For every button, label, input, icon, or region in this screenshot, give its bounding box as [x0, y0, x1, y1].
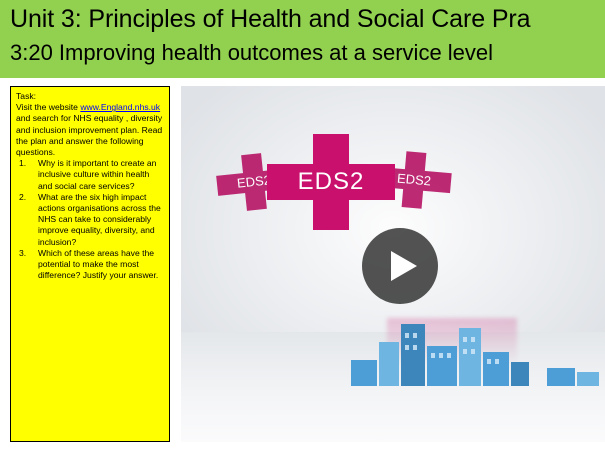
task-intro: Visit the website www.England.nhs.uk and… — [16, 102, 164, 158]
task-question-list: 1.Why is it important to create an inclu… — [16, 158, 164, 281]
question-number: 3. — [19, 248, 26, 259]
task-heading: Task: — [16, 91, 164, 102]
question-text: What are the six high impact actions org… — [38, 192, 161, 247]
slide: Unit 3: Principles of Health and Social … — [0, 0, 605, 454]
question-number: 2. — [19, 192, 26, 203]
task-intro-before: Visit the website — [16, 102, 80, 112]
task-intro-after: and search for NHS equality , diversity … — [16, 113, 162, 157]
page-title-line-1: Unit 3: Principles of Health and Social … — [10, 2, 530, 36]
cross-main-icon: EDS2 — [267, 134, 395, 230]
page-title-line-2: 3:20 Improving health outcomes at a serv… — [10, 38, 493, 68]
list-item: 3.Which of these areas have the potentia… — [16, 248, 164, 282]
video-player[interactable]: EDS2 EDS2 EDS2 — [181, 86, 605, 442]
nhs-website-link[interactable]: www.England.nhs.uk — [80, 102, 160, 112]
question-text: Why is it important to create an inclusi… — [38, 158, 156, 190]
task-box: Task: Visit the website www.England.nhs.… — [10, 86, 170, 442]
question-number: 1. — [19, 158, 26, 169]
play-button[interactable] — [362, 228, 438, 304]
list-item: 2.What are the six high impact actions o… — [16, 192, 164, 248]
cross-main-label: EDS2 — [267, 164, 395, 200]
list-item: 1.Why is it important to create an inclu… — [16, 158, 164, 192]
question-text: Which of these areas have the potential … — [38, 248, 158, 280]
play-icon — [391, 251, 417, 281]
